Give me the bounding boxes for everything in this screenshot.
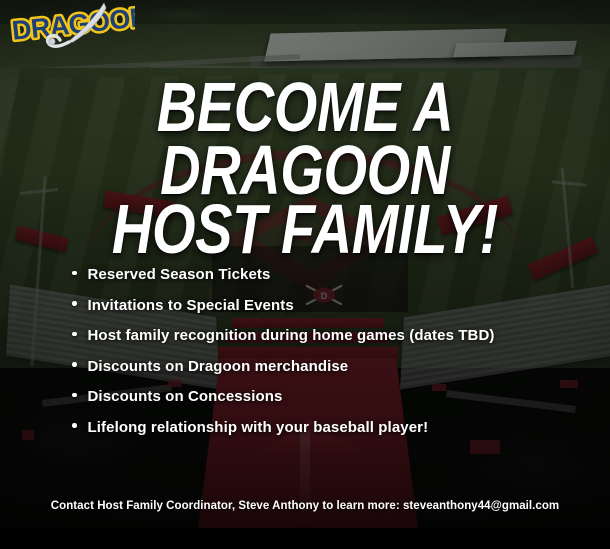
list-item: Host family recognition during home game… [72, 327, 592, 344]
poster-headline: BECOME A DRAGOON HOST FAMILY! [0, 76, 610, 261]
bullet-dot-icon [72, 271, 77, 276]
bullet-dot-icon [72, 362, 77, 367]
list-item-label: Discounts on Concessions [88, 388, 283, 405]
dragoons-logo: DRAGOONS DRAGOONS [3, 2, 135, 54]
list-item-label: Reserved Season Tickets [88, 266, 271, 283]
bottom-letterbox-bar [0, 528, 610, 549]
headline-line-2: HOST FAMILY! [61, 198, 549, 261]
bullet-dot-icon [72, 301, 77, 306]
list-item-label: Invitations to Special Events [88, 297, 294, 314]
list-item: Discounts on Concessions [72, 388, 592, 405]
list-item-label: Discounts on Dragoon merchandise [88, 358, 349, 375]
list-item: Discounts on Dragoon merchandise [72, 358, 592, 375]
benefits-list: Reserved Season Tickets Invitations to S… [72, 266, 592, 449]
list-item: Invitations to Special Events [72, 297, 592, 314]
headline-line-1: BECOME A DRAGOON [61, 76, 549, 202]
bullet-dot-icon [72, 332, 77, 337]
host-family-poster: D [0, 0, 610, 549]
poster-content: DRAGOONS DRAGOONS BECOME A DRAGOON HOST … [0, 0, 610, 549]
list-item: Lifelong relationship with your baseball… [72, 419, 592, 436]
contact-footer: Contact Host Family Coordinator, Steve A… [0, 500, 610, 512]
list-item: Reserved Season Tickets [72, 266, 592, 283]
bullet-dot-icon [72, 423, 77, 428]
list-item-label: Host family recognition during home game… [88, 327, 495, 344]
bullet-dot-icon [72, 393, 77, 398]
list-item-label: Lifelong relationship with your baseball… [88, 419, 429, 436]
